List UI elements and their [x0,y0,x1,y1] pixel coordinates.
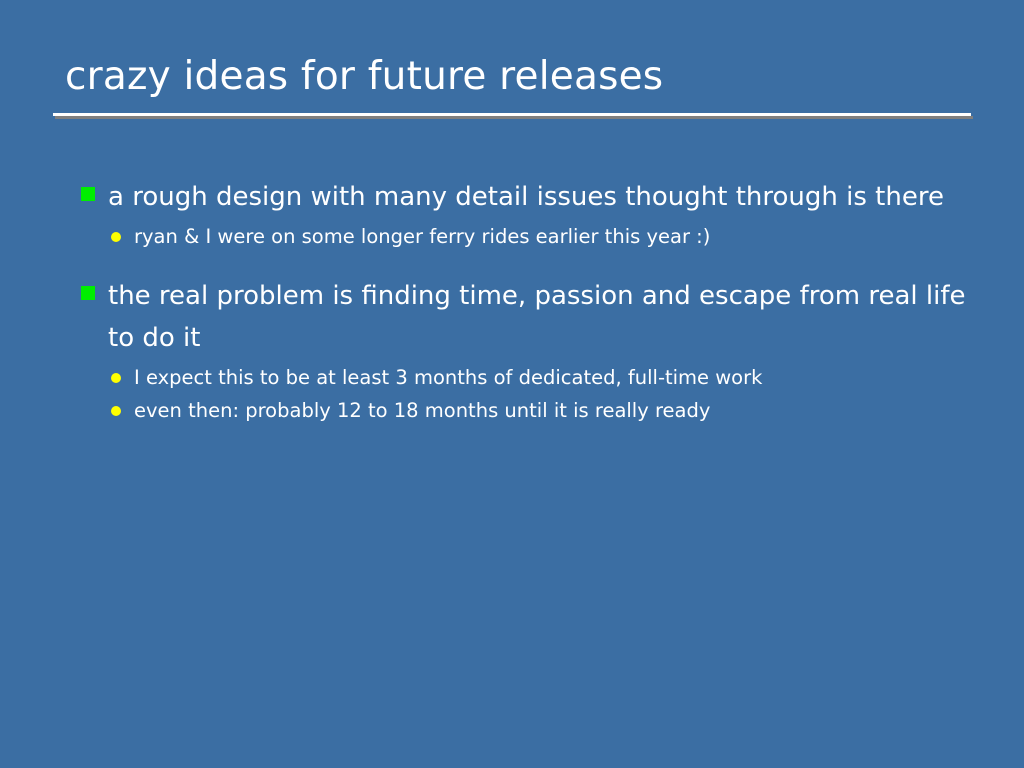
bullet-item-level2: ryan & I were on some longer ferry rides… [78,220,968,253]
sub-bullet-list: ryan & I were on some longer ferry rides… [78,220,968,253]
bullet-group: the real problem is finding time, passio… [78,275,968,427]
presentation-slide: crazy ideas for future releases a rough … [0,0,1024,768]
bullet-item-level2: even then: probably 12 to 18 months unti… [78,394,968,427]
title-rule [53,113,971,116]
page-title: crazy ideas for future releases [53,52,971,102]
slide-body: a rough design with many detail issues t… [78,176,968,427]
slide-title-block: crazy ideas for future releases [53,52,971,102]
yellow-dot-bullet-icon [111,232,121,242]
bullet-text-level2: ryan & I were on some longer ferry rides… [134,220,968,253]
yellow-dot-bullet-icon [111,406,121,416]
green-square-bullet-icon [81,187,95,201]
sub-bullet-list: I expect this to be at least 3 months of… [78,361,968,427]
bullet-text-level1: the real problem is finding time, passio… [108,275,968,359]
bullet-item-level1: a rough design with many detail issues t… [78,176,968,218]
bullet-item-level1: the real problem is finding time, passio… [78,275,968,359]
bullet-text-level2: I expect this to be at least 3 months of… [134,361,968,394]
bullet-text-level2: even then: probably 12 to 18 months unti… [134,394,968,427]
bullet-text-level1: a rough design with many detail issues t… [108,176,968,218]
yellow-dot-bullet-icon [111,373,121,383]
green-square-bullet-icon [81,286,95,300]
bullet-item-level2: I expect this to be at least 3 months of… [78,361,968,394]
title-rule-shadow [55,116,973,119]
bullet-group: a rough design with many detail issues t… [78,176,968,253]
